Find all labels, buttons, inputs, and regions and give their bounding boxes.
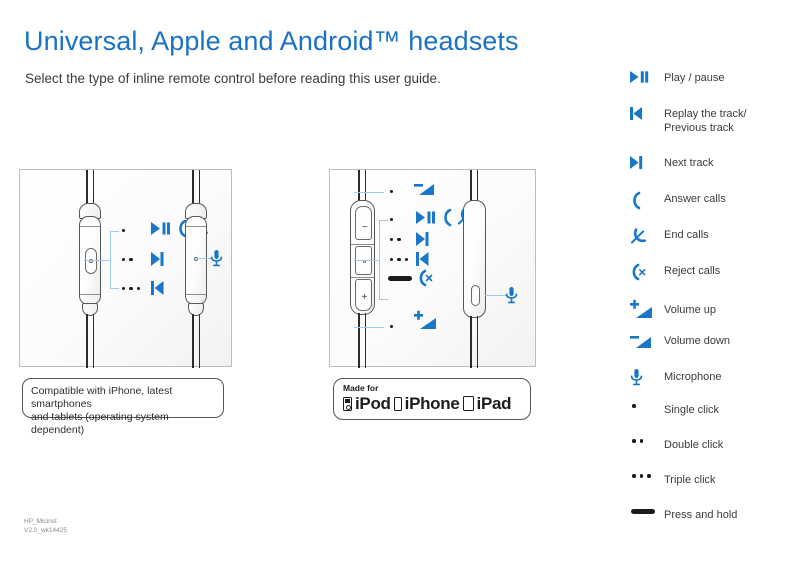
legend-item-answer-calls: Answer calls [630,191,802,227]
volume-up-icon [630,298,664,320]
ipad-label: iPad [477,394,512,413]
apple-callout-bracket [379,220,380,300]
callout-double-click [122,258,133,261]
cable-right [192,170,200,206]
apple-remote-left: − + [350,200,375,315]
ipod-device-icon [343,397,352,411]
next-track-icon [630,155,664,169]
double-click-icon [630,438,664,443]
document-revision-footer: HP_Micinst V2.0_wk14425 [24,518,67,535]
previous-track-icon [416,252,430,266]
triple-click-icon [630,473,664,478]
callout-single-click [122,229,125,232]
universal-compatibility-caption: Compatible with iPhone, latest smartphon… [22,378,224,418]
press-hold-icon [630,508,664,514]
page-title: Universal, Apple and Android™ headsets [24,26,519,57]
legend-label: Play / pause [664,70,725,85]
apple-headset-diagram: − + [329,169,536,367]
legend-item-press-and-hold: Press and hold [630,508,802,538]
legend-item-triple-click: Triple click [630,473,802,508]
legend-item-volume-down: Volume down [630,333,802,368]
legend-item-microphone: Microphone [630,368,802,403]
caption-line-2: and tablets (operating system dependent) [31,411,215,437]
cable-left-lower [86,314,94,368]
volume-down-button[interactable]: − [355,206,372,240]
ipod-label: iPod [355,394,391,413]
play-pause-icon [630,70,664,83]
microphone-icon [505,287,518,304]
made-for-apple-badge: Made for iPod iPhone iPad [333,378,531,420]
legend-label-line2: Previous track [664,121,747,135]
apple-remote-right [463,200,486,318]
apple-lead-center [354,260,379,261]
legend-label: Next track [664,155,714,170]
volume-up-button[interactable]: + [355,279,372,311]
reject-call-icon [630,263,664,280]
answer-call-icon [441,209,452,226]
end-call-icon [630,227,664,245]
legend-label: End calls [664,227,709,242]
apple-cable-right-lower [470,316,478,368]
legend-item-play-pause: Play / pause [630,70,802,106]
previous-track-icon [630,106,664,120]
apple-callout-single-click-volup [390,325,393,328]
callout-triple-click [122,287,140,290]
play-pause-icon [416,211,436,224]
legend-label: Microphone [664,368,721,384]
legend-item-next-track: Next track [630,155,802,191]
legend-label: Press and hold [664,508,737,522]
footer-line-1: HP_Micinst [24,518,67,527]
previous-track-icon [151,281,165,295]
callout-bracket-left [110,231,111,289]
iphone-device-icon [394,397,402,411]
legend-label: Volume up [664,298,716,317]
legend-item-single-click: Single click [630,403,802,438]
icon-legend: Play / pause Replay the track/ Previous … [630,70,802,538]
apple-callout-press-and-hold [388,276,412,281]
microphone-icon [210,250,223,267]
legend-item-reject-calls: Reject calls [630,263,802,298]
legend-label: Answer calls [664,191,726,206]
volume-up-icon [414,310,437,331]
apple-callout-single-click-voldown [390,190,393,193]
universal-headset-diagram [19,169,232,367]
apple-lead-volume-up [354,327,384,328]
ipad-device-icon [463,396,474,411]
callout-lead-left [84,260,110,261]
apple-cable-right [470,170,478,202]
apple-lead-microphone [485,295,507,296]
legend-item-double-click: Double click [630,438,802,473]
universal-remote-right [185,216,207,305]
apple-callout-double-click [390,238,401,241]
minus-sign: − [362,223,368,233]
legend-item-volume-up: Volume up [630,298,802,333]
microphone-button[interactable] [471,285,480,306]
apple-cable-left-lower [358,313,366,368]
answer-call-icon [630,191,664,209]
universal-multifunction-button[interactable] [85,248,97,274]
legend-label: Single click [664,403,719,417]
legend-item-previous-track: Replay the track/ Previous track [630,106,802,155]
reject-call-icon [417,270,434,286]
made-for-label: Made for [343,383,522,393]
microphone-icon [630,368,664,386]
single-click-icon [630,403,664,408]
legend-item-end-calls: End calls [630,227,802,263]
apple-cable-left [358,170,366,202]
cable-right-lower [192,314,200,368]
apple-lead-volume-down [354,192,384,193]
plus-sign: + [362,293,368,303]
page-root: Universal, Apple and Android™ headsets S… [0,0,802,566]
legend-label: Double click [664,438,723,452]
caption-line-1: Compatible with iPhone, latest smartphon… [31,385,215,411]
legend-label: Volume down [664,333,730,348]
iphone-label: iPhone [405,394,460,413]
apple-callout-single-click [390,218,393,221]
volume-down-icon [630,333,664,349]
page-subtitle: Select the type of inline remote control… [25,71,441,86]
legend-label-line1: Replay the track/ [664,107,747,121]
legend-label: Triple click [664,473,716,487]
cable-left [86,170,94,206]
volume-down-icon [414,182,435,196]
apple-callout-triple-click [390,258,408,261]
next-track-icon [151,252,165,266]
next-track-icon [416,232,430,246]
play-pause-icon [151,222,171,235]
footer-line-2: V2.0_wk14425 [24,527,67,536]
legend-label: Reject calls [664,263,720,278]
